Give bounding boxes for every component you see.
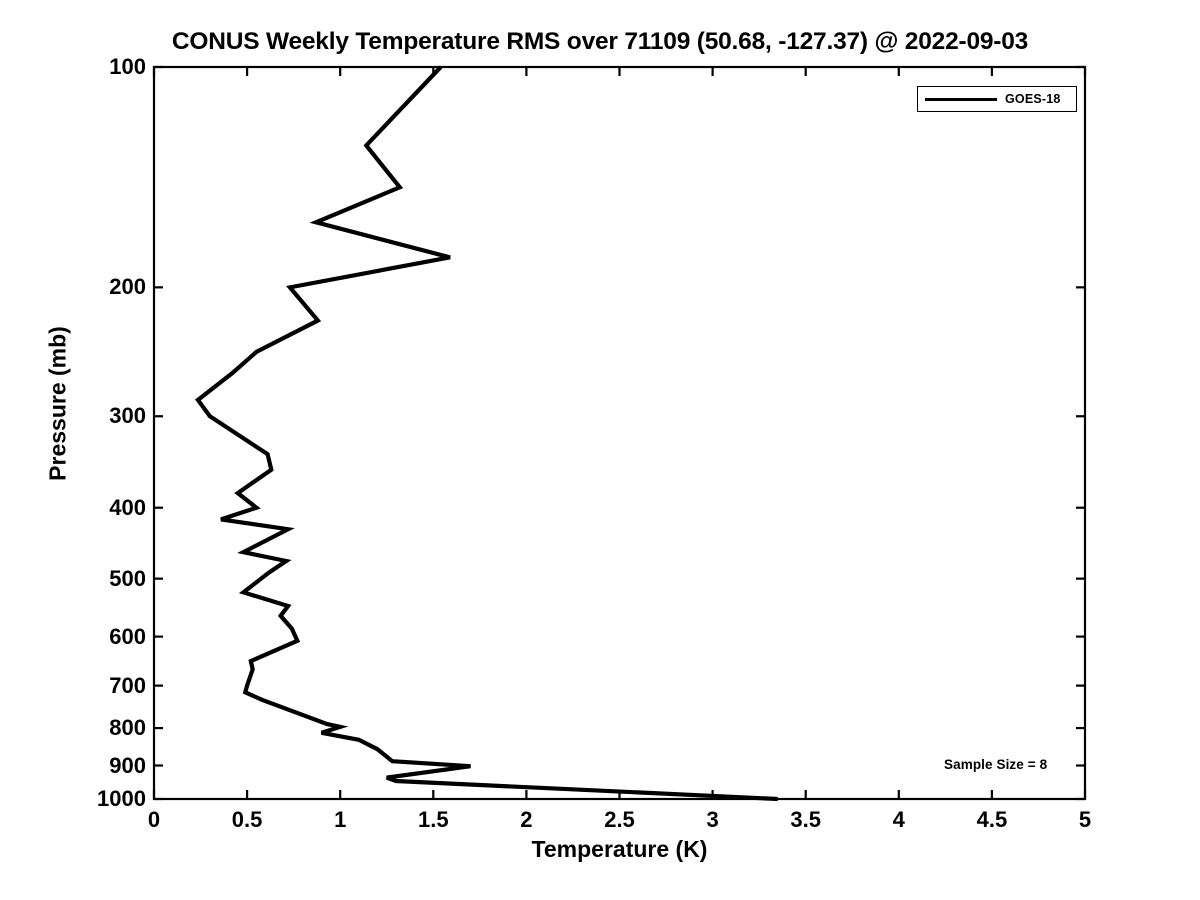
y-tick-label: 200 bbox=[109, 274, 146, 300]
data-series-goes18 bbox=[198, 67, 778, 799]
x-tick-label: 2.5 bbox=[604, 807, 635, 833]
y-tick-label: 400 bbox=[109, 495, 146, 521]
x-tick-label: 4 bbox=[893, 807, 905, 833]
y-tick-label: 700 bbox=[109, 673, 146, 699]
x-tick-label: 0 bbox=[148, 807, 160, 833]
sample-size-annotation: Sample Size = 8 bbox=[944, 757, 1047, 772]
x-tick-label: 3.5 bbox=[790, 807, 821, 833]
x-tick-label: 0.5 bbox=[232, 807, 263, 833]
y-tick-label: 800 bbox=[109, 715, 146, 741]
y-tick-label: 300 bbox=[109, 403, 146, 429]
axes-frame bbox=[154, 67, 1085, 799]
y-tick-label: 600 bbox=[109, 624, 146, 650]
legend-line-swatch bbox=[925, 98, 997, 101]
x-tick-label: 1.5 bbox=[418, 807, 449, 833]
x-tick-label: 4.5 bbox=[977, 807, 1008, 833]
y-tick-label: 900 bbox=[109, 753, 146, 779]
axis-ticks bbox=[154, 67, 1085, 799]
x-tick-label: 3 bbox=[706, 807, 718, 833]
x-tick-label: 2 bbox=[520, 807, 532, 833]
y-tick-label: 1000 bbox=[97, 786, 146, 812]
y-tick-label: 500 bbox=[109, 566, 146, 592]
figure-canvas: CONUS Weekly Temperature RMS over 71109 … bbox=[0, 0, 1200, 900]
y-tick-label: 100 bbox=[109, 54, 146, 80]
legend: GOES-18 bbox=[917, 86, 1077, 112]
legend-label: GOES-18 bbox=[1005, 92, 1061, 106]
x-tick-label: 1 bbox=[334, 807, 346, 833]
x-tick-label: 5 bbox=[1079, 807, 1091, 833]
